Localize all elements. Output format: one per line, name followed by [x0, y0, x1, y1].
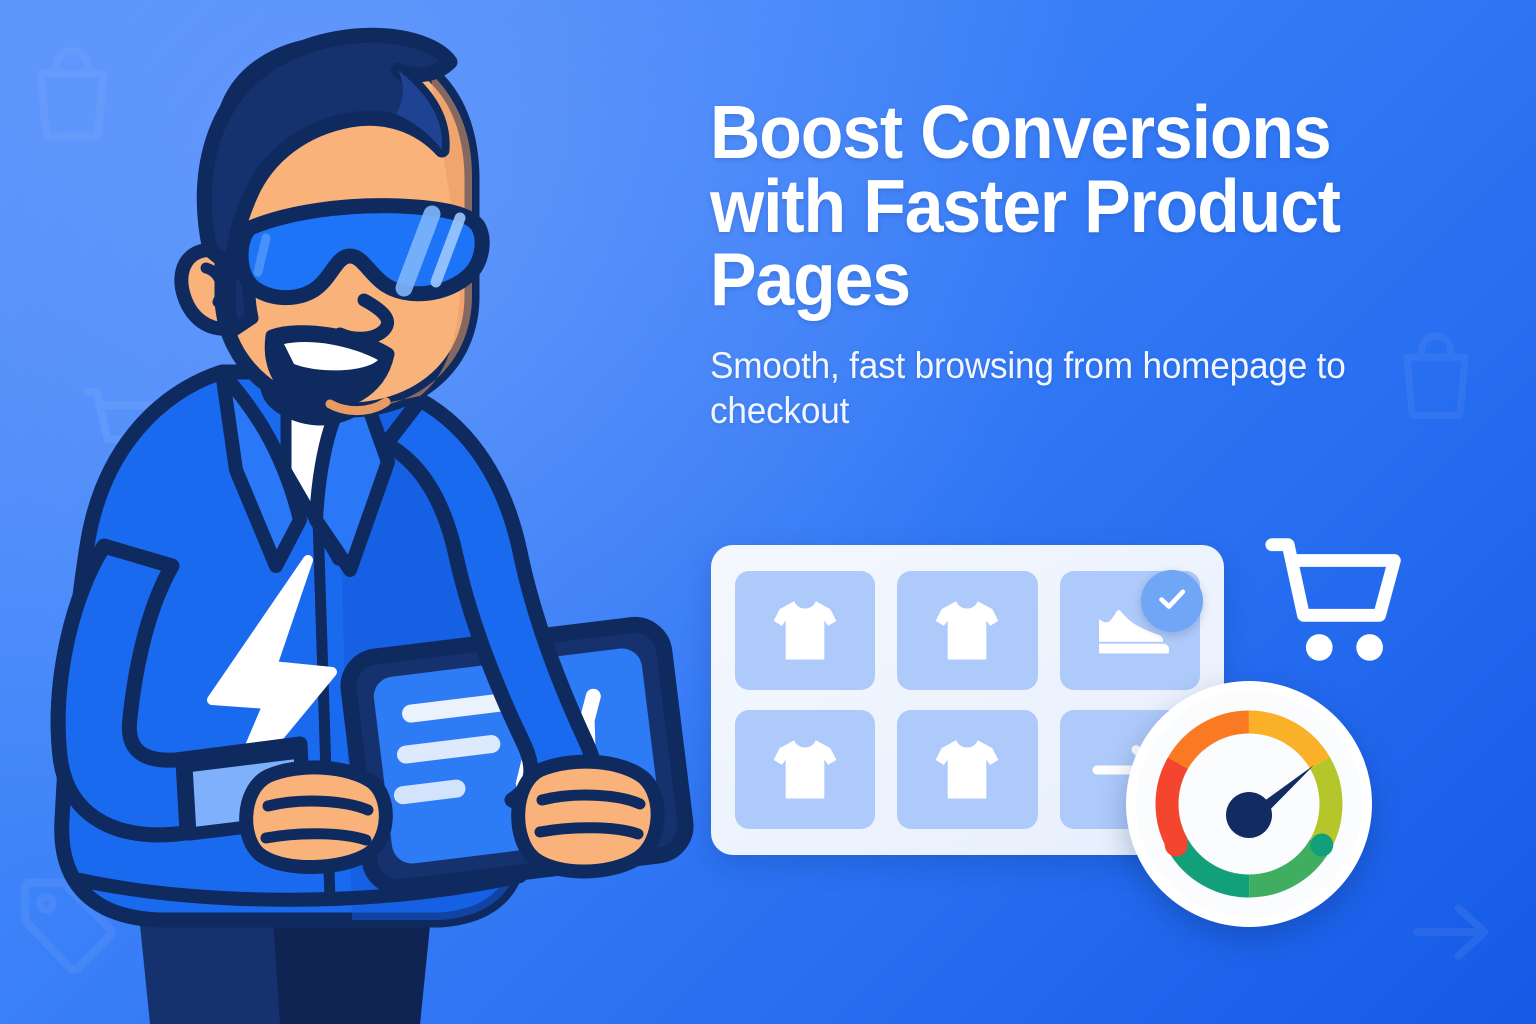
tshirt-icon — [929, 732, 1005, 808]
speed-mascot-illustration — [0, 0, 720, 1024]
product-tile-tshirt-3[interactable] — [735, 710, 875, 829]
right-hand — [518, 762, 657, 872]
page-subtitle: Smooth, fast browsing from homepage to c… — [710, 343, 1404, 433]
left-hand — [246, 767, 386, 867]
product-tile-tshirt-1[interactable] — [735, 571, 875, 690]
status-badge-loaded — [1141, 570, 1203, 632]
watermark-arrow-right-icon — [1400, 880, 1504, 984]
speedometer-icon — [1126, 681, 1372, 927]
product-tile-tshirt-4[interactable] — [897, 710, 1037, 829]
product-tile-tshirt-2[interactable] — [897, 571, 1037, 690]
tshirt-icon — [767, 732, 843, 808]
mascot-head — [181, 35, 482, 410]
page-title: Boost Conversions with Faster Product Pa… — [710, 96, 1389, 317]
marketing-banner: Boost Conversions with Faster Product Pa… — [0, 0, 1536, 1024]
check-icon — [1154, 581, 1190, 622]
tshirt-icon — [929, 593, 1005, 669]
shopping-cart-icon — [1262, 533, 1420, 668]
tshirt-icon — [767, 593, 843, 669]
copy-block: Boost Conversions with Faster Product Pa… — [710, 96, 1440, 433]
